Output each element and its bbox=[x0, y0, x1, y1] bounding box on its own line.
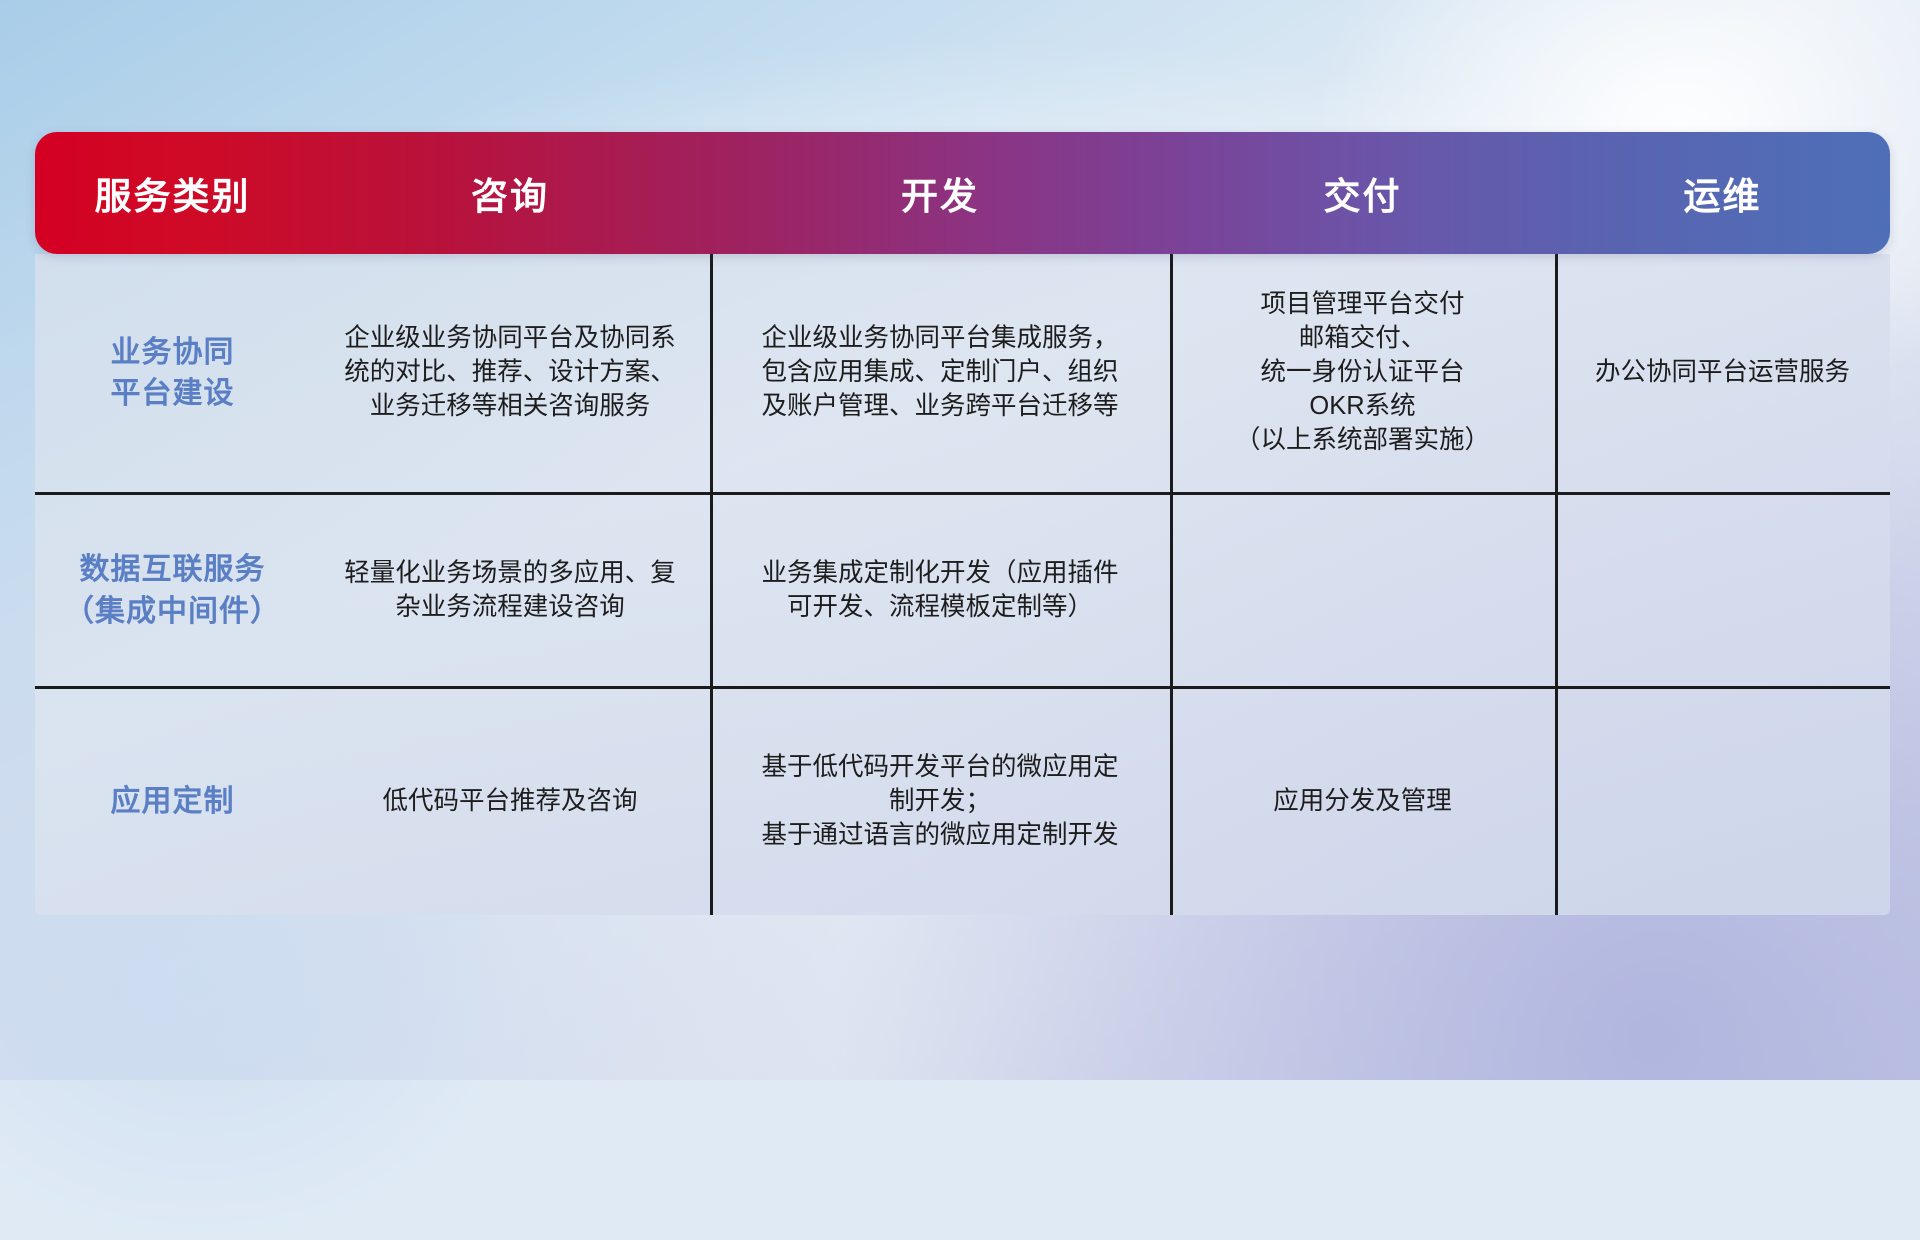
table-row: 数据互联服务 （集成中间件） 轻量化业务场景的多应用、复 杂业务流程建设咨询 业… bbox=[35, 492, 1890, 686]
cell-operations bbox=[1555, 495, 1890, 686]
cell-consulting: 企业级业务协同平台及协同系 统的对比、推荐、设计方案、 业务迁移等相关咨询服务 bbox=[310, 254, 710, 492]
service-matrix-table: 服务类别 咨询 开发 交付 运维 业务协同 平台建设 企业级业务协同平台及协同系… bbox=[35, 132, 1890, 962]
cell-delivery bbox=[1170, 495, 1555, 686]
cell-delivery: 项目管理平台交付 邮箱交付、 统一身份认证平台 OKR系统 （以上系统部署实施） bbox=[1170, 254, 1555, 492]
row-category-label: 应用定制 bbox=[35, 689, 310, 915]
column-divider bbox=[1555, 689, 1558, 915]
cell-operations bbox=[1555, 689, 1890, 915]
column-divider bbox=[1170, 254, 1173, 492]
cell-operations: 办公协同平台运营服务 bbox=[1555, 254, 1890, 492]
table-body: 业务协同 平台建设 企业级业务协同平台及协同系 统的对比、推荐、设计方案、 业务… bbox=[35, 254, 1890, 915]
column-divider bbox=[1170, 689, 1173, 915]
column-divider bbox=[1555, 254, 1558, 492]
cell-development: 企业级业务协同平台集成服务， 包含应用集成、定制门户、组织 及账户管理、业务跨平… bbox=[710, 254, 1170, 492]
column-divider bbox=[1170, 495, 1173, 686]
column-header-operations: 运维 bbox=[1555, 166, 1890, 220]
cell-development: 业务集成定制化开发（应用插件 可开发、流程模板定制等） bbox=[710, 495, 1170, 686]
column-header-service-category: 服务类别 bbox=[35, 166, 310, 220]
cell-consulting: 低代码平台推荐及咨询 bbox=[310, 689, 710, 915]
row-category-label: 数据互联服务 （集成中间件） bbox=[35, 495, 310, 686]
table-row: 业务协同 平台建设 企业级业务协同平台及协同系 统的对比、推荐、设计方案、 业务… bbox=[35, 254, 1890, 492]
column-divider bbox=[710, 689, 713, 915]
column-header-consulting: 咨询 bbox=[310, 166, 710, 220]
table-row: 应用定制 低代码平台推荐及咨询 基于低代码开发平台的微应用定 制开发； 基于通过… bbox=[35, 686, 1890, 915]
column-header-delivery: 交付 bbox=[1170, 166, 1555, 220]
column-divider bbox=[710, 254, 713, 492]
column-header-development: 开发 bbox=[710, 166, 1170, 220]
column-divider bbox=[710, 495, 713, 686]
column-divider bbox=[1555, 495, 1558, 686]
table-header-row: 服务类别 咨询 开发 交付 运维 bbox=[35, 132, 1890, 254]
cell-consulting: 轻量化业务场景的多应用、复 杂业务流程建设咨询 bbox=[310, 495, 710, 686]
row-category-label: 业务协同 平台建设 bbox=[35, 254, 310, 492]
cell-delivery: 应用分发及管理 bbox=[1170, 689, 1555, 915]
cell-development: 基于低代码开发平台的微应用定 制开发； 基于通过语言的微应用定制开发 bbox=[710, 689, 1170, 915]
